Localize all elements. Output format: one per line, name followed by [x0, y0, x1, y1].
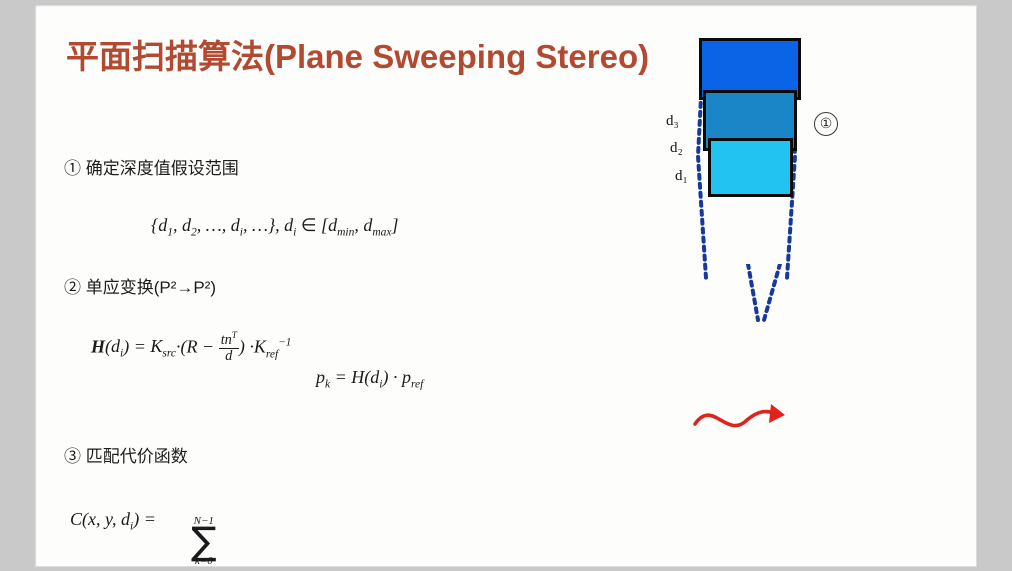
step-2-label: 单应变换(P²→P²) — [86, 278, 216, 297]
depth-plane-d1 — [708, 138, 793, 197]
step-2-marker: ② — [64, 278, 81, 297]
badge-1: ① — [814, 112, 838, 136]
formula-depth-set: {d1, d2, …, di, …}, di ∈ [dmin, dmax] — [151, 215, 976, 239]
step-3-marker: ③ — [64, 447, 81, 466]
formula-sum-outer: N−1 ∑ k=0 — [191, 516, 976, 566]
formula-homography: H(di) = Ksrc·(R − tnTd) ·Kref−1 — [91, 332, 976, 365]
sum-lower-limit: k=0 — [191, 556, 217, 566]
step-1-marker: ① — [64, 159, 81, 178]
formula-projection: pk = H(di) · pref — [316, 367, 976, 391]
step-1-label: 确定深度值假设范围 — [86, 159, 239, 178]
slide-canvas: 平面扫描算法(Plane Sweeping Stereo) ① 确定深度值假设范… — [36, 6, 976, 566]
depth-label-d1: d₁ — [675, 168, 688, 185]
cube-to-chart-arrow — [691, 384, 801, 448]
figure-plane-sweep-frustum: d₃ d₂ d₁ ① — [656, 28, 846, 198]
reference-rays-below — [696, 264, 846, 324]
depth-label-d3: d₃ — [666, 113, 679, 130]
step-3: ③ 匹配代价函数 — [64, 442, 976, 467]
depth-label-d2: d₂ — [670, 140, 683, 157]
step-3-label: 匹配代价函数 — [86, 447, 188, 466]
